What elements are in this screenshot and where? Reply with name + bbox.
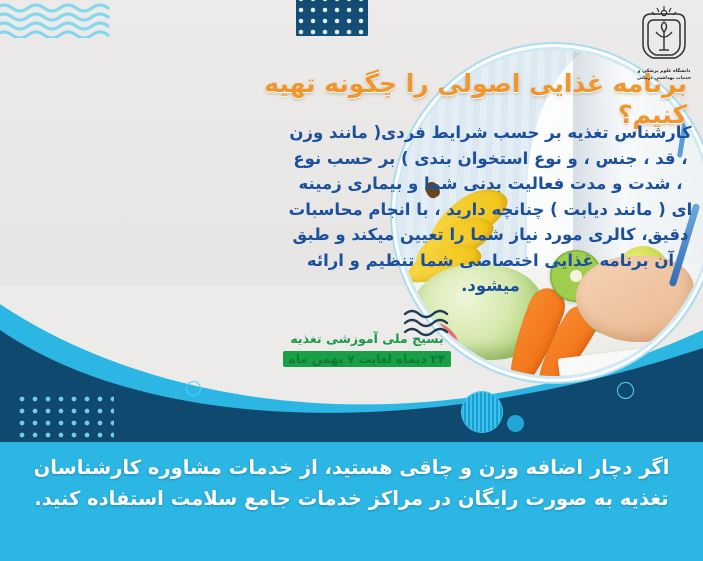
nutrition-infographic-poster: دانشگاه علوم پزشکی و خدمات بهداشتی درمان…: [0, 0, 703, 561]
dot-grid-decoration-bottom-left: [18, 395, 114, 443]
footer-message: اگر دچار اضافه وزن و چاقی هستید، از خدما…: [0, 452, 703, 514]
ministry-logo: دانشگاه علوم پزشکی و خدمات بهداشتی درمان…: [633, 2, 695, 88]
body-paragraph: کارشناس تغذیه بر حسب شرایط فردی( مانند و…: [288, 120, 693, 299]
campaign-block: بسیج ملی آموزشی تغذیه ۲۴ دیماه لغایت ۷ ب…: [267, 330, 467, 367]
campaign-name: بسیج ملی آموزشی تغذیه: [267, 330, 467, 348]
logo-caption: دانشگاه علوم پزشکی و خدمات بهداشتی درمان…: [633, 69, 695, 82]
wavy-lines-decoration-top-left: [0, 2, 116, 38]
campaign-dates: ۲۴ دیماه لغایت ۷ بهمن ماه: [283, 351, 451, 367]
small-dot-decoration: [507, 415, 524, 432]
outline-ring-decoration-right: [617, 382, 634, 399]
outline-ring-decoration-left: [186, 381, 201, 396]
striped-circle-decoration: [462, 392, 502, 432]
dot-grid-decoration-top: [296, 0, 368, 36]
bowl-of-hygieia-icon: [633, 2, 695, 64]
